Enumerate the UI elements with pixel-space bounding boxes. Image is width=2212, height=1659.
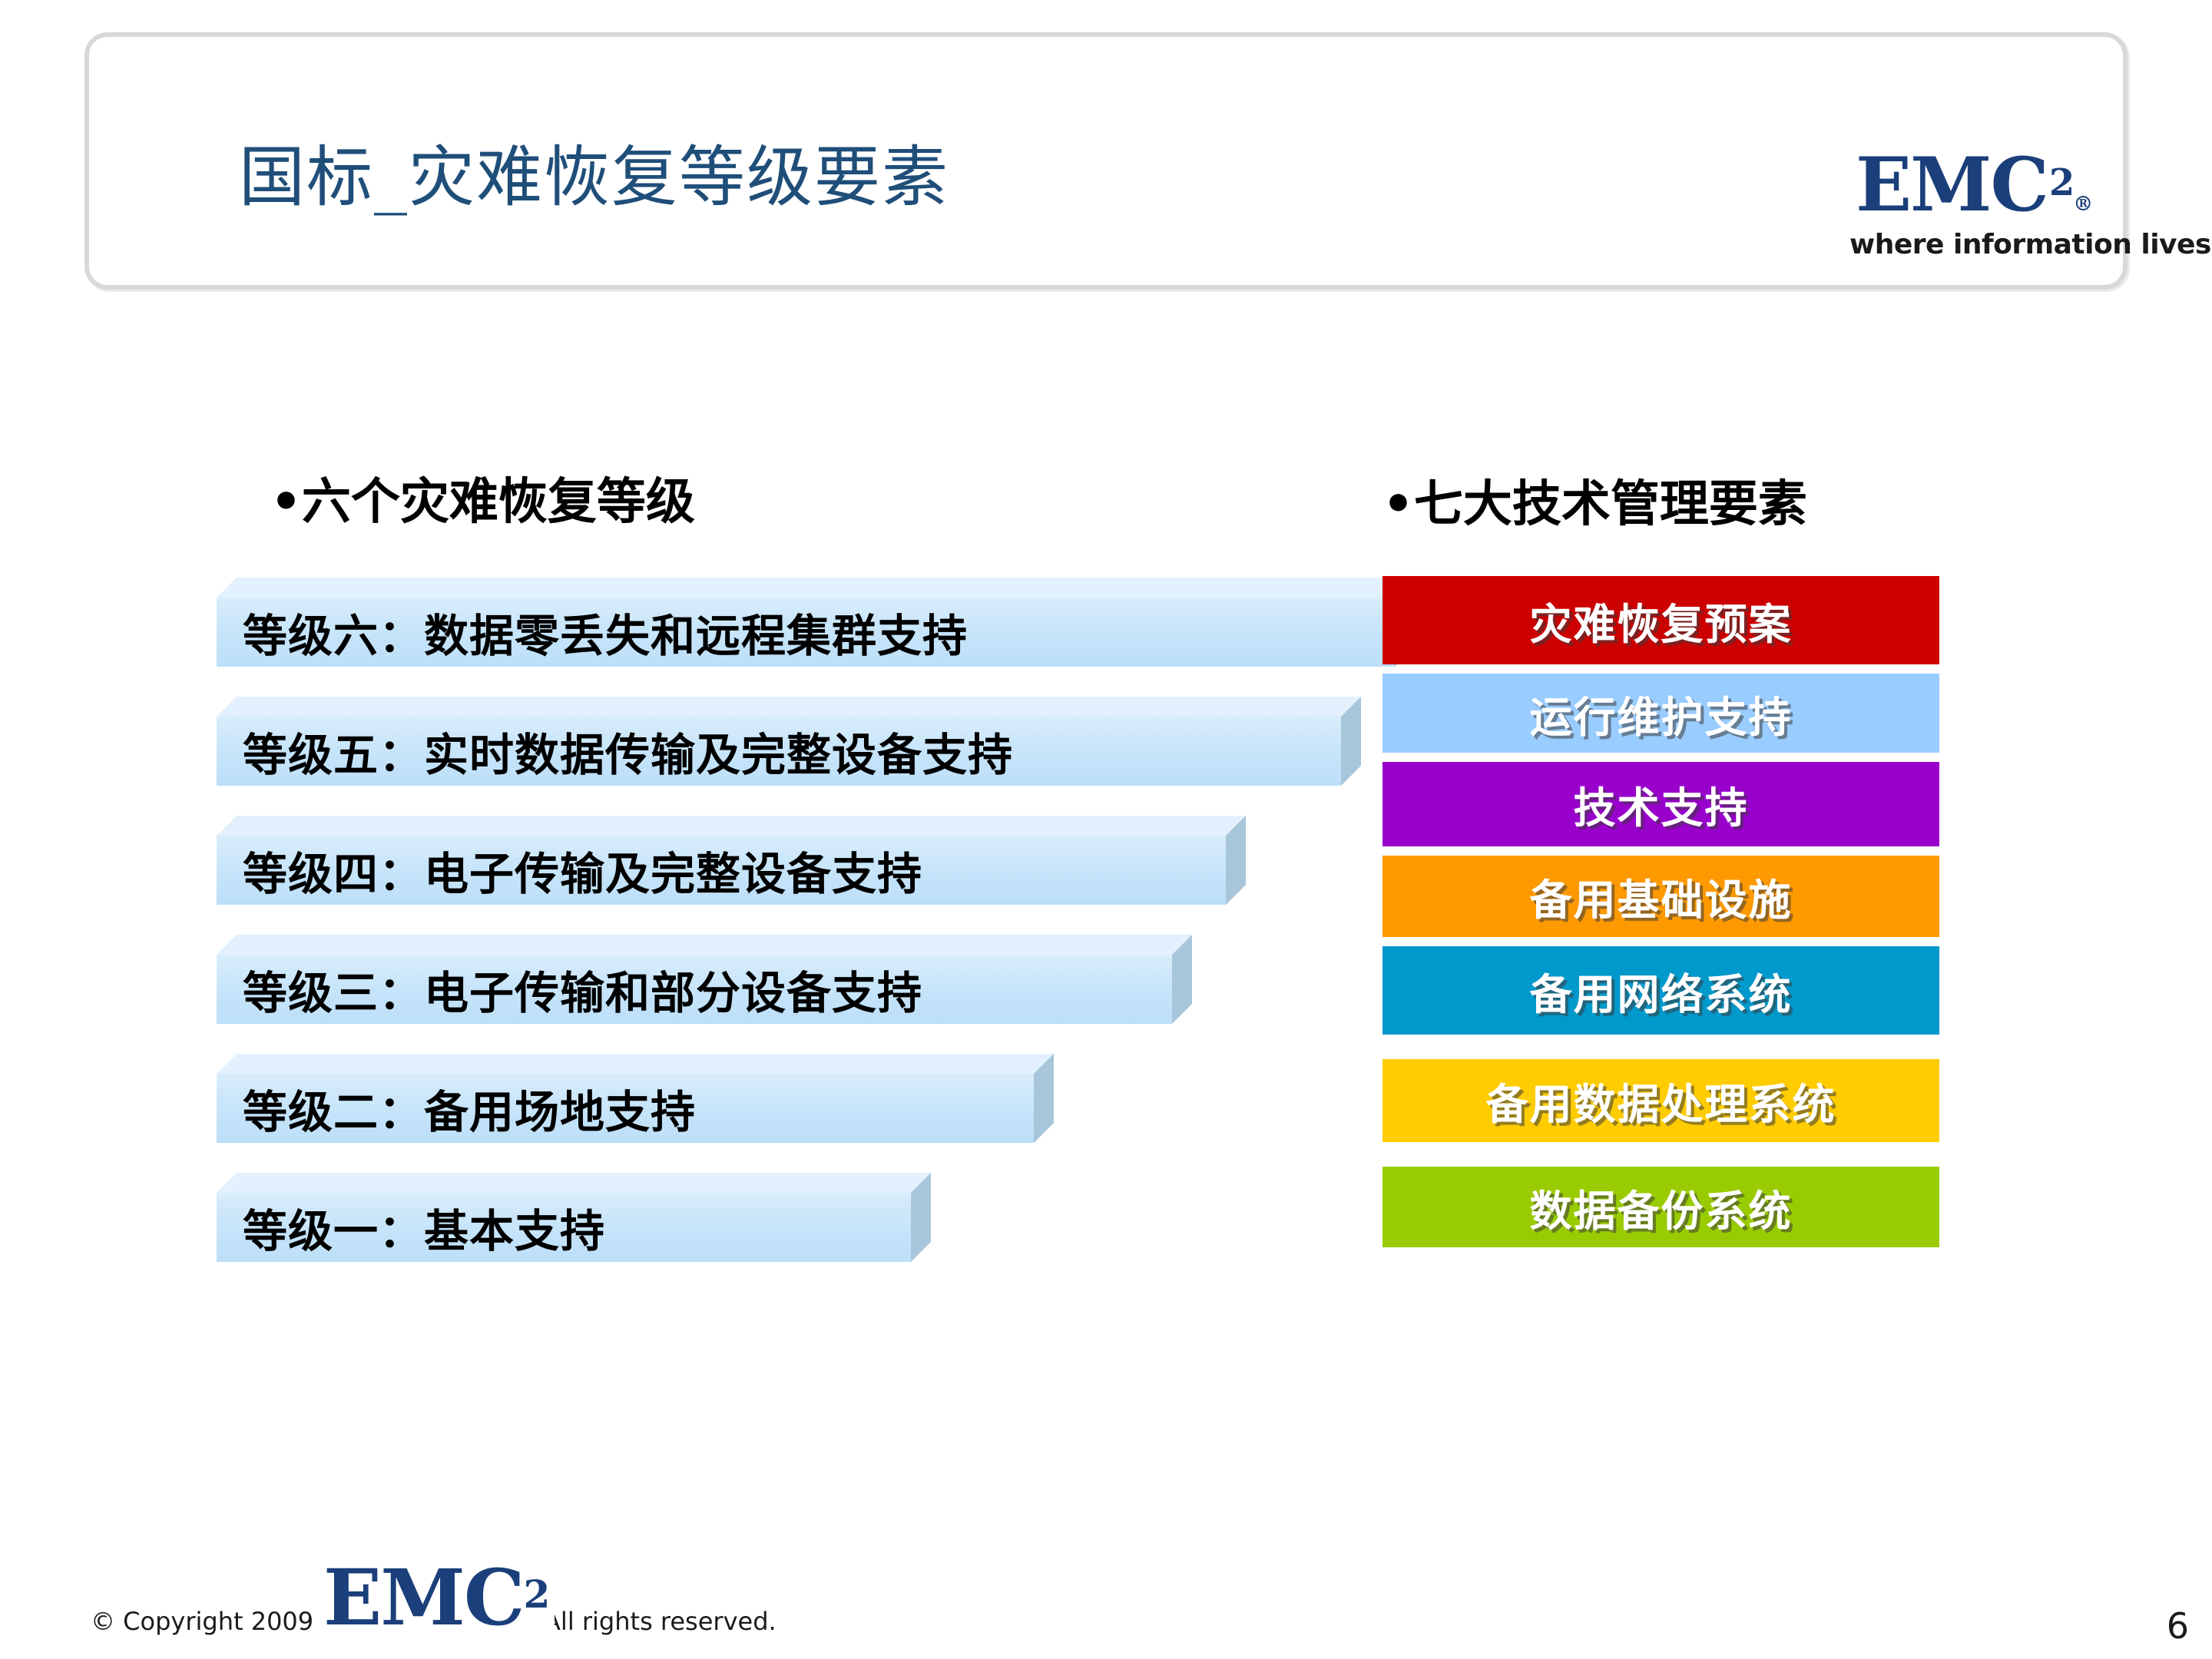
title-frame: 国标_灾难恢复等级要素 EMC2® where information live…: [84, 32, 2128, 290]
recovery-level-label: 等级四：电子传输及完整设备支持: [243, 836, 922, 905]
emc-logo-footer: EMC2: [319, 1559, 555, 1636]
recovery-level-label: 等级二：备用场地支持: [243, 1074, 696, 1143]
recovery-level-bar: 等级一：基本支持: [217, 1173, 931, 1262]
technical-element-bar: 灾难恢复预案: [1382, 576, 1939, 664]
left-column-heading: •六个灾难恢复等级: [270, 478, 695, 527]
recovery-level-label: 等级三：电子传输和部分设备支持: [243, 955, 922, 1024]
technical-element-bar: 数据备份系统: [1382, 1167, 1939, 1247]
recovery-level-bar-top-face: [217, 1173, 931, 1193]
recovery-level-bar-top-face: [217, 697, 1361, 717]
technical-element-bar: 备用数据处理系统: [1382, 1059, 1939, 1142]
emc-logo-superscript: 2: [2049, 161, 2075, 204]
technical-element-bar: 备用基础设施: [1382, 856, 1939, 937]
recovery-level-bar: 等级三：电子传输和部分设备支持: [217, 935, 1192, 1024]
emc-logo-wordmark: EMC: [1856, 141, 2048, 228]
emc-tagline: where information lives®: [1849, 229, 2212, 260]
technical-element-bar: 运行维护支持: [1382, 674, 1939, 753]
recovery-level-bar: 等级二：备用场地支持: [217, 1054, 1054, 1143]
technical-element-bar: 备用网络系统: [1382, 946, 1939, 1035]
recovery-level-bar-top-face: [217, 935, 1192, 955]
recovery-level-bar: 等级五：实时数据传输及完整设备支持: [217, 697, 1361, 786]
recovery-level-label: 等级五：实时数据传输及完整设备支持: [243, 717, 1013, 786]
emc-logo-footer-superscript: 2: [524, 1571, 551, 1617]
emc-logo-registered-icon: ®: [2073, 193, 2093, 216]
recovery-level-label: 等级六：数据零丢失和远程集群支持: [243, 598, 968, 667]
recovery-level-bar: 等级六：数据零丢失和远程集群支持: [217, 578, 1415, 667]
emc-logo-header: EMC2®: [1856, 148, 2093, 222]
recovery-level-bar-top-face: [217, 816, 1246, 836]
recovery-level-bar: 等级四：电子传输及完整设备支持: [217, 816, 1246, 905]
recovery-level-label: 等级一：基本支持: [243, 1193, 605, 1262]
right-column-heading: •七大技术管理要素: [1382, 480, 1807, 529]
page-title: 国标_灾难恢复等级要素: [239, 144, 949, 210]
emc-logo-footer-wordmark: EMC: [323, 1552, 524, 1643]
recovery-level-bar-top-face: [217, 578, 1415, 598]
page-number: 6: [2167, 1605, 2189, 1647]
technical-element-bar: 技术支持: [1382, 762, 1939, 846]
recovery-level-bar-top-face: [217, 1054, 1054, 1074]
emc-tagline-text: where information lives: [1849, 229, 2211, 260]
